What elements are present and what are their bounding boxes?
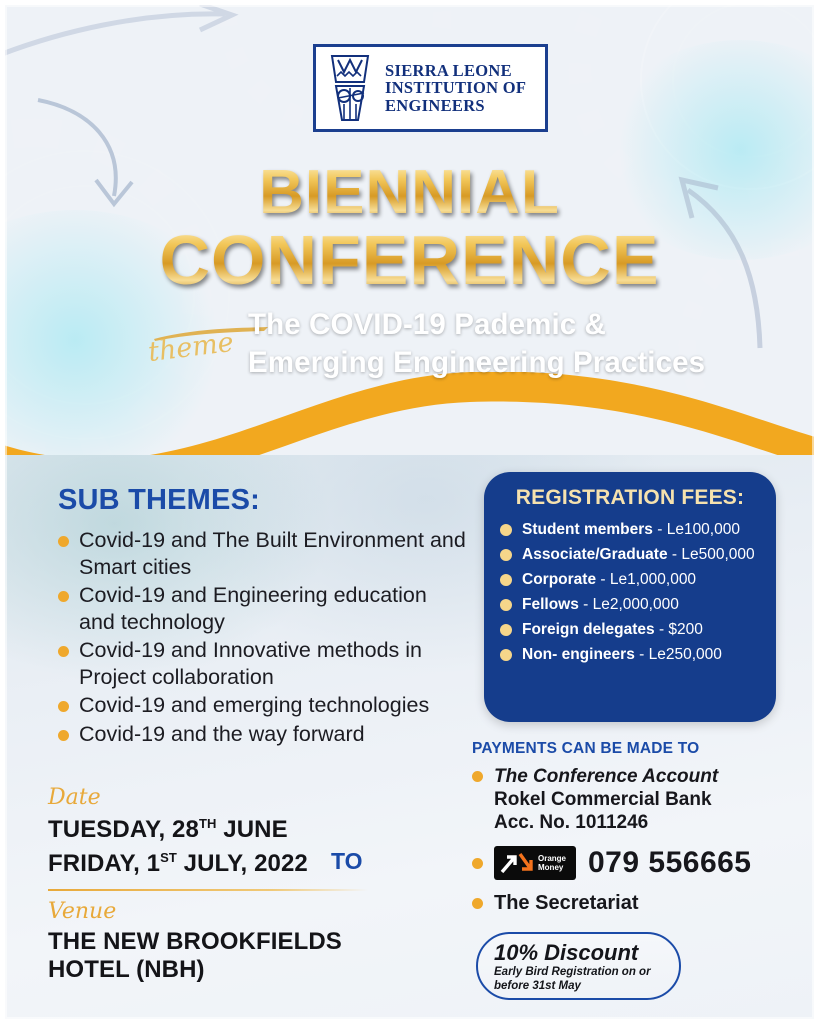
page-title: BIENNIAL CONFERENCE	[0, 162, 819, 296]
venue-line-2: HOTEL (NBH)	[48, 956, 398, 984]
orange-money-line-2: Money	[538, 863, 566, 872]
bullet-icon	[500, 524, 512, 536]
date-start-ordinal: TH	[199, 816, 217, 831]
orange-money-wordmark: Orange Money	[538, 854, 566, 872]
bullet-icon	[58, 701, 69, 712]
list-item: Covid-19 and Innovative methods in Proje…	[58, 637, 468, 690]
payment-orange-money: Orange Money 079 556665	[472, 846, 792, 880]
organization-name: SIERRA LEONE INSTITUTION OF ENGINEERS	[385, 62, 526, 115]
venue-label: Venue	[48, 900, 398, 924]
orange-money-phone: 079 556665	[588, 846, 752, 880]
date-end-prefix: FRIDAY, 1	[48, 850, 160, 877]
discount-sub-line-1: Early Bird Registration on or	[494, 965, 679, 979]
list-item: Covid-19 and emerging technologies	[58, 692, 468, 719]
title-line-2: CONFERENCE	[0, 224, 819, 296]
bullet-icon	[500, 649, 512, 661]
subtheme-text: Covid-19 and the way forward	[79, 722, 365, 746]
venue-line-1: THE NEW BROOKFIELDS	[48, 928, 398, 956]
conference-flyer: SIERRA LEONE INSTITUTION OF ENGINEERS BI…	[0, 0, 819, 1024]
institution-emblem-icon	[324, 52, 376, 124]
bullet-icon	[472, 858, 483, 869]
bullet-icon	[500, 624, 512, 636]
fee-label: Foreign delegates	[522, 621, 655, 638]
fee-row: Non- engineers - Le250,000	[500, 646, 760, 664]
subthemes-list: Covid-19 and The Built Environment and S…	[58, 527, 468, 747]
secretariat-label: The Secretariat	[494, 892, 792, 915]
subthemes-section: SUB THEMES: Covid-19 and The Built Envir…	[58, 484, 468, 749]
bullet-icon	[500, 549, 512, 561]
fee-amount: - $200	[659, 621, 703, 638]
organization-logo: SIERRA LEONE INSTITUTION OF ENGINEERS	[313, 44, 548, 132]
fee-amount: - Le1,000,000	[600, 571, 696, 588]
bullet-icon	[472, 771, 483, 782]
org-line-3: ENGINEERS	[385, 97, 526, 115]
subtheme-text: Covid-19 and emerging technologies	[79, 693, 429, 717]
list-item: Covid-19 and The Built Environment and S…	[58, 527, 468, 580]
date-label: Date	[48, 786, 398, 810]
curved-arrow-icon	[0, 2, 250, 62]
registration-fees-list: Student members - Le100,000 Associate/Gr…	[500, 521, 760, 664]
payment-bank-account: The Conference Account Rokel Commercial …	[472, 765, 792, 834]
bullet-icon	[500, 574, 512, 586]
fee-label: Student members	[522, 521, 653, 538]
bullet-icon	[472, 898, 483, 909]
bullet-icon	[58, 646, 69, 657]
fee-label: Corporate	[522, 571, 596, 588]
date-line-1: TUESDAY, 28TH JUNE	[48, 810, 398, 844]
fee-amount: - Le100,000	[657, 521, 740, 538]
orange-money-line-1: Orange	[538, 854, 566, 863]
orange-money-logo: Orange Money	[494, 846, 576, 880]
date-range-connector: TO	[331, 848, 363, 875]
subtheme-text: Covid-19 and The Built Environment and S…	[79, 528, 466, 579]
subthemes-heading: SUB THEMES:	[58, 484, 468, 517]
date-start-suffix: JUNE	[216, 816, 287, 843]
list-item: Covid-19 and Engineering education and t…	[58, 582, 468, 635]
discount-headline: 10% Discount	[494, 941, 679, 965]
orange-money-arrows-icon	[500, 852, 534, 874]
discount-sub-line-2: before 31st May	[494, 979, 679, 993]
org-line-1: SIERRA LEONE	[385, 62, 526, 80]
early-bird-discount-badge: 10% Discount Early Bird Registration on …	[476, 932, 681, 1000]
fee-row: Corporate - Le1,000,000	[500, 571, 760, 589]
date-start-prefix: TUESDAY, 28	[48, 816, 199, 843]
date-end-ordinal: ST	[160, 850, 177, 865]
list-item: Covid-19 and the way forward	[58, 721, 468, 748]
title-line-1: BIENNIAL	[0, 162, 819, 224]
fee-label: Fellows	[522, 596, 579, 613]
fee-amount: - Le250,000	[639, 646, 722, 663]
fee-row: Foreign delegates - $200	[500, 621, 760, 639]
fee-label: Non- engineers	[522, 646, 635, 663]
payment-secretariat: The Secretariat	[472, 892, 792, 915]
registration-fees-heading: REGISTRATION FEES:	[500, 486, 760, 510]
theme-line-2: Emerging Engineering Practices	[248, 344, 768, 382]
theme-text: The COVID-19 Pademic & Emerging Engineer…	[248, 306, 768, 382]
date-end-suffix: JULY, 2022	[177, 850, 308, 877]
fee-amount: - Le500,000	[672, 546, 755, 563]
fee-amount: - Le2,000,000	[583, 596, 679, 613]
theme-line-1: The COVID-19 Pademic &	[248, 306, 768, 344]
account-number: Acc. No. 1011246	[494, 811, 792, 834]
bullet-icon	[500, 599, 512, 611]
subtheme-text: Covid-19 and Innovative methods in Proje…	[79, 638, 422, 689]
org-line-2: INSTITUTION OF	[385, 79, 526, 97]
fee-row: Student members - Le100,000	[500, 521, 760, 539]
bullet-icon	[58, 591, 69, 602]
fee-label: Associate/Graduate	[522, 546, 668, 563]
bullet-icon	[58, 730, 69, 741]
account-name: The Conference Account	[494, 765, 792, 788]
bank-name: Rokel Commercial Bank	[494, 788, 792, 811]
section-divider	[48, 889, 368, 891]
registration-fees-box: REGISTRATION FEES: Student members - Le1…	[484, 472, 776, 722]
bullet-icon	[58, 536, 69, 547]
fee-row: Associate/Graduate - Le500,000	[500, 546, 760, 564]
date-venue-section: Date TUESDAY, 28TH JUNE FRIDAY, 1ST JULY…	[48, 786, 398, 984]
fee-row: Fellows - Le2,000,000	[500, 596, 760, 614]
subtheme-text: Covid-19 and Engineering education and t…	[79, 583, 427, 634]
payments-section: PAYMENTS CAN BE MADE TO The Conference A…	[472, 740, 792, 923]
payments-heading: PAYMENTS CAN BE MADE TO	[472, 740, 792, 758]
